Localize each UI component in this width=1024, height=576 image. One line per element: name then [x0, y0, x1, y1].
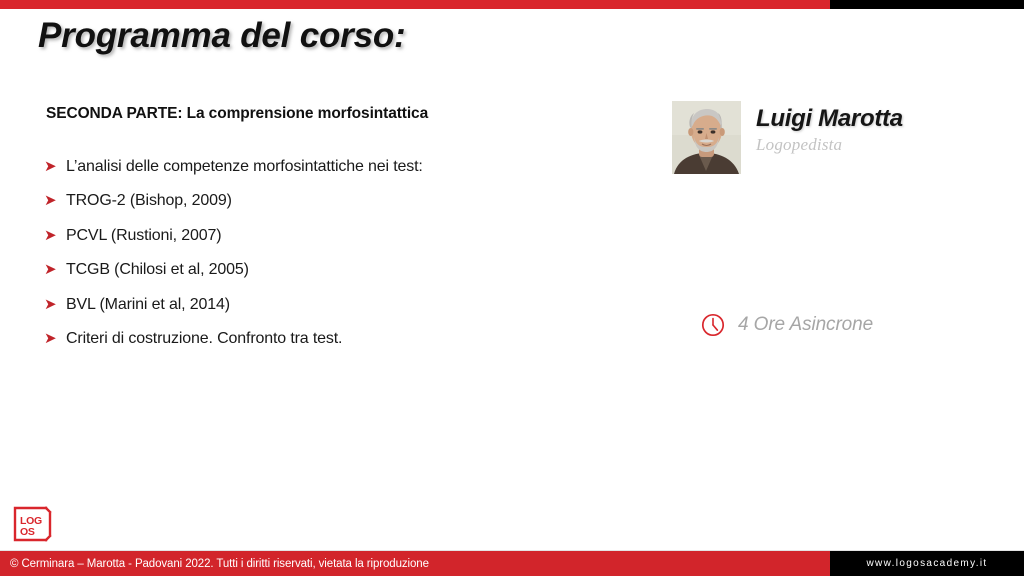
arrow-bullet-icon: ➤: [44, 159, 66, 174]
arrow-bullet-icon: ➤: [44, 297, 66, 312]
footer: © Cerminara – Marotta - Padovani 2022. T…: [0, 551, 1024, 576]
top-accent-bar: [0, 0, 1024, 9]
duration-label: 4 Ore Asincrone: [738, 314, 873, 336]
clock-icon: [700, 312, 726, 338]
speaker-role: Logopedista: [756, 135, 903, 155]
arrow-bullet-icon: ➤: [44, 228, 66, 243]
list-item-label: TCGB (Chilosi et al, 2005): [66, 261, 249, 279]
list-item-label: PCVL (Rustioni, 2007): [66, 227, 221, 245]
top-accent-bar-red: [0, 0, 830, 9]
list-item-label: L’analisi delle competenze morfosintatti…: [66, 158, 423, 176]
logos-logo: LOG OS: [12, 505, 56, 543]
footer-website-band: www.logosacademy.it: [830, 551, 1024, 576]
list-item-label: TROG-2 (Bishop, 2009): [66, 192, 232, 210]
arrow-bullet-icon: ➤: [44, 331, 66, 346]
list-item: ➤ Criteri di costruzione. Confronto tra …: [44, 330, 604, 364]
list-item: ➤ TCGB (Chilosi et al, 2005): [44, 261, 604, 295]
duration-badge: 4 Ore Asincrone: [700, 312, 873, 338]
list-item-label: Criteri di costruzione. Confronto tra te…: [66, 330, 342, 348]
speaker-meta: Luigi Marotta Logopedista: [756, 101, 903, 155]
list-item: ➤ L’analisi delle competenze morfosintat…: [44, 158, 604, 192]
list-item-label: BVL (Marini et al, 2014): [66, 296, 230, 314]
speaker-card: Luigi Marotta Logopedista: [672, 101, 903, 174]
arrow-bullet-icon: ➤: [44, 193, 66, 208]
slide: Programma del corso: SECONDA PARTE: La c…: [0, 0, 1024, 576]
section-heading: SECONDA PARTE: La comprensione morfosint…: [46, 105, 428, 123]
svg-text:OS: OS: [20, 526, 35, 538]
list-item: ➤ BVL (Marini et al, 2014): [44, 296, 604, 330]
page-title: Programma del corso:: [38, 16, 406, 56]
footer-copyright-band: © Cerminara – Marotta - Padovani 2022. T…: [0, 551, 830, 576]
website-url[interactable]: www.logosacademy.it: [866, 558, 987, 569]
top-accent-bar-black: [830, 0, 1024, 9]
arrow-bullet-icon: ➤: [44, 262, 66, 277]
list-item: ➤ PCVL (Rustioni, 2007): [44, 227, 604, 261]
avatar: [672, 101, 741, 174]
bullet-list: ➤ L’analisi delle competenze morfosintat…: [44, 158, 604, 364]
speaker-name: Luigi Marotta: [756, 106, 903, 131]
list-item: ➤ TROG-2 (Bishop, 2009): [44, 192, 604, 226]
copyright-text: © Cerminara – Marotta - Padovani 2022. T…: [10, 558, 429, 570]
